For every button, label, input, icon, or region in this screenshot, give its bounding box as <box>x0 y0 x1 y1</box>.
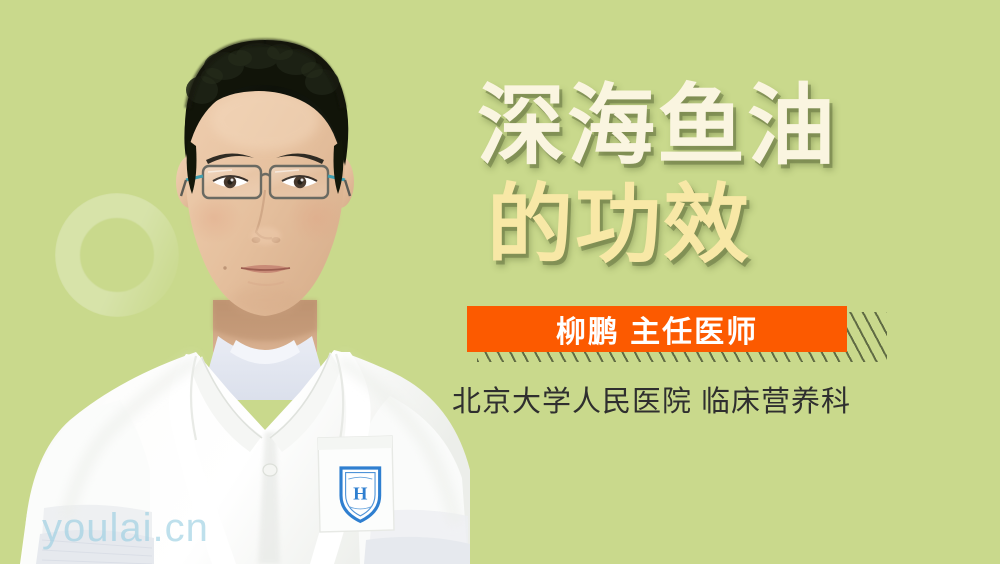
speaker-banner: 柳鹏 主任医师 <box>467 306 847 352</box>
poster-canvas: H <box>0 0 1000 564</box>
affiliation-text: 北京大学人民医院 临床营养科 <box>452 378 851 420</box>
hospital-emblem-badge: H <box>341 468 380 521</box>
svg-text:H: H <box>353 483 367 503</box>
torso: H <box>20 336 470 564</box>
title-line-2: 的功效 <box>487 182 937 268</box>
speaker-name-title: 柳鹏 主任医师 <box>556 307 758 351</box>
speaker-banner-wrap: 柳鹏 主任医师 <box>467 300 887 362</box>
title-line-1: 深海鱼油 <box>477 82 937 170</box>
title-block: 深海鱼油 的功效 <box>467 82 937 268</box>
doctor-portrait: H <box>0 0 470 564</box>
